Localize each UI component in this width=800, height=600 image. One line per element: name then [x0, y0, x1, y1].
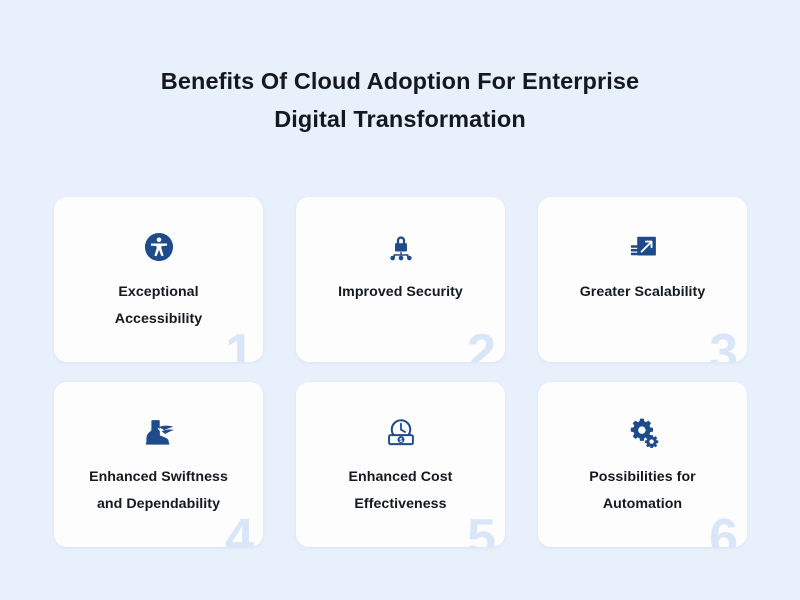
- benefit-card-automation[interactable]: Possibilities for Automation 6: [538, 382, 747, 547]
- lock-network-icon: [385, 228, 417, 266]
- benefit-card-label: Improved Security: [324, 279, 477, 306]
- benefit-card-number: 6: [709, 512, 738, 547]
- benefit-card-security[interactable]: Improved Security 2: [296, 197, 505, 362]
- slide-root: Benefits Of Cloud Adoption For Enterpris…: [0, 0, 800, 600]
- benefit-label-line-2: Automation: [603, 496, 682, 512]
- accessibility-icon: [144, 228, 174, 266]
- benefit-card-number: 2: [467, 327, 496, 362]
- page-title-line-2: Digital Transformation: [0, 100, 800, 138]
- winged-boot-icon: [140, 413, 178, 451]
- benefit-card-number: 5: [467, 512, 496, 547]
- benefit-label-line-2: Accessibility: [115, 311, 202, 327]
- benefit-label-line-1: Possibilities for: [589, 469, 696, 485]
- benefit-label-line-1: Enhanced Cost: [349, 469, 453, 485]
- benefit-label-line-1: Enhanced Swiftness: [89, 469, 228, 485]
- benefit-card-label: Exceptional Accessibility: [101, 279, 216, 333]
- benefit-card-number: 1: [225, 327, 254, 362]
- page-title: Benefits Of Cloud Adoption For Enterpris…: [0, 62, 800, 138]
- benefit-card-label: Possibilities for Automation: [575, 464, 710, 518]
- growth-arrow-icon: [627, 228, 659, 266]
- benefit-label-line-2: Effectiveness: [354, 496, 446, 512]
- benefit-label-line-2: and Dependability: [97, 496, 220, 512]
- benefit-card-cost[interactable]: $ Enhanced Cost Effectiveness 5: [296, 382, 505, 547]
- benefit-label-line-1: Greater Scalability: [580, 284, 706, 300]
- benefit-card-label: Enhanced Cost Effectiveness: [335, 464, 467, 518]
- benefit-card-label: Greater Scalability: [566, 279, 720, 306]
- benefit-card-number: 3: [709, 327, 738, 362]
- benefit-card-scalability[interactable]: Greater Scalability 3: [538, 197, 747, 362]
- benefit-label-line-1: Improved Security: [338, 284, 463, 300]
- benefit-card-label: Enhanced Swiftness and Dependability: [75, 464, 242, 518]
- gears-icon: [626, 413, 660, 451]
- benefit-card-swiftness[interactable]: Enhanced Swiftness and Dependability 4: [54, 382, 263, 547]
- benefit-card-accessibility[interactable]: Exceptional Accessibility 1: [54, 197, 263, 362]
- benefit-label-line-1: Exceptional: [118, 284, 198, 300]
- page-title-line-1: Benefits Of Cloud Adoption For Enterpris…: [0, 62, 800, 100]
- benefits-card-grid: Exceptional Accessibility 1: [54, 197, 746, 547]
- clock-money-icon: $: [384, 413, 418, 451]
